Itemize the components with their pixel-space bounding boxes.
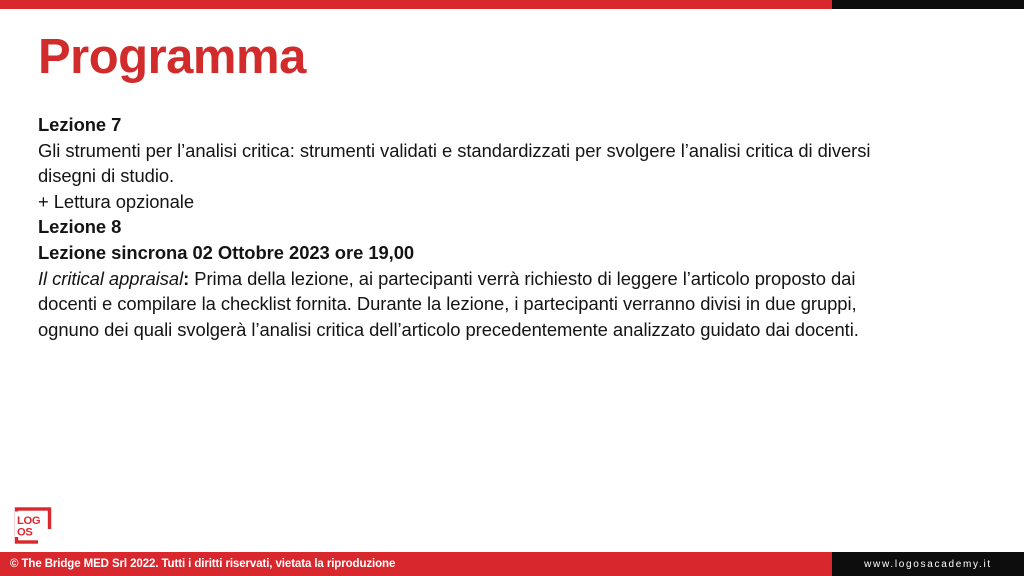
- lezione-7-description: Gli strumenti per l’analisi critica: str…: [38, 138, 898, 189]
- footer-bar: © The Bridge MED Srl 2022. Tutti i dirit…: [0, 552, 1024, 576]
- lettura-opzionale-line: + Lettura opzionale: [38, 189, 898, 215]
- footer-copyright: © The Bridge MED Srl 2022. Tutti i dirit…: [0, 552, 832, 576]
- page-title: Programma: [38, 32, 306, 83]
- top-accent-bar-black: [832, 0, 1024, 9]
- top-accent-bar-red: [0, 0, 832, 9]
- lezione-8-sincrona-line: Lezione sincrona 02 Ottobre 2023 ore 19,…: [38, 240, 898, 266]
- lezione-8-heading: Lezione 8: [38, 214, 898, 240]
- slide-body: Lezione 7 Gli strumenti per l’analisi cr…: [38, 112, 898, 342]
- critical-appraisal-term: Il critical appraisal: [38, 268, 183, 289]
- lezione-7-heading: Lezione 7: [38, 112, 898, 138]
- logos-logo: LOG OS: [14, 507, 54, 545]
- critical-appraisal-paragraph: Il critical appraisal: Prima della lezio…: [38, 266, 898, 343]
- svg-text:LOG: LOG: [17, 515, 41, 527]
- footer-website: www.logosacademy.it: [832, 552, 1024, 576]
- svg-text:OS: OS: [17, 526, 33, 538]
- top-accent-bar: [0, 0, 1024, 9]
